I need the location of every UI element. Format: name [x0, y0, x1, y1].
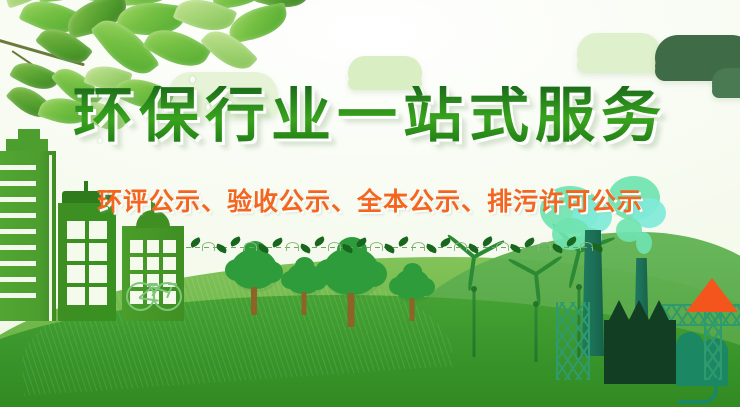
lattice-tower — [556, 302, 590, 380]
building-mid — [58, 203, 116, 321]
tree-1 — [226, 249, 282, 315]
factory-roof-tooth — [648, 300, 670, 322]
bicycle-icon — [126, 275, 182, 311]
banner-title: 环保行业一站式服务 — [0, 86, 740, 146]
building-highrise — [0, 151, 56, 321]
factory-pipe — [678, 378, 718, 404]
factory-building — [604, 320, 676, 384]
tree-4 — [390, 269, 434, 321]
factory-with-smokestacks — [558, 192, 740, 407]
crane-mast — [704, 312, 722, 380]
tree-3 — [318, 247, 384, 327]
pale-green-cloud-top-right — [577, 33, 661, 73]
factory-roof-tooth — [628, 300, 650, 322]
banner-subtitle: 环评公示、验收公示、全本公示、排污许可公示 — [0, 190, 740, 215]
eco-banner: 环保行业一站式服务 环评公示、验收公示、全本公示、排污许可公示 — [0, 0, 740, 407]
leaf-vine-divider — [186, 236, 606, 256]
smoke-puff — [636, 232, 652, 254]
factory-roof-tooth — [608, 300, 630, 322]
wind-turbine-1 — [444, 257, 504, 357]
crane-triangle — [686, 278, 738, 312]
